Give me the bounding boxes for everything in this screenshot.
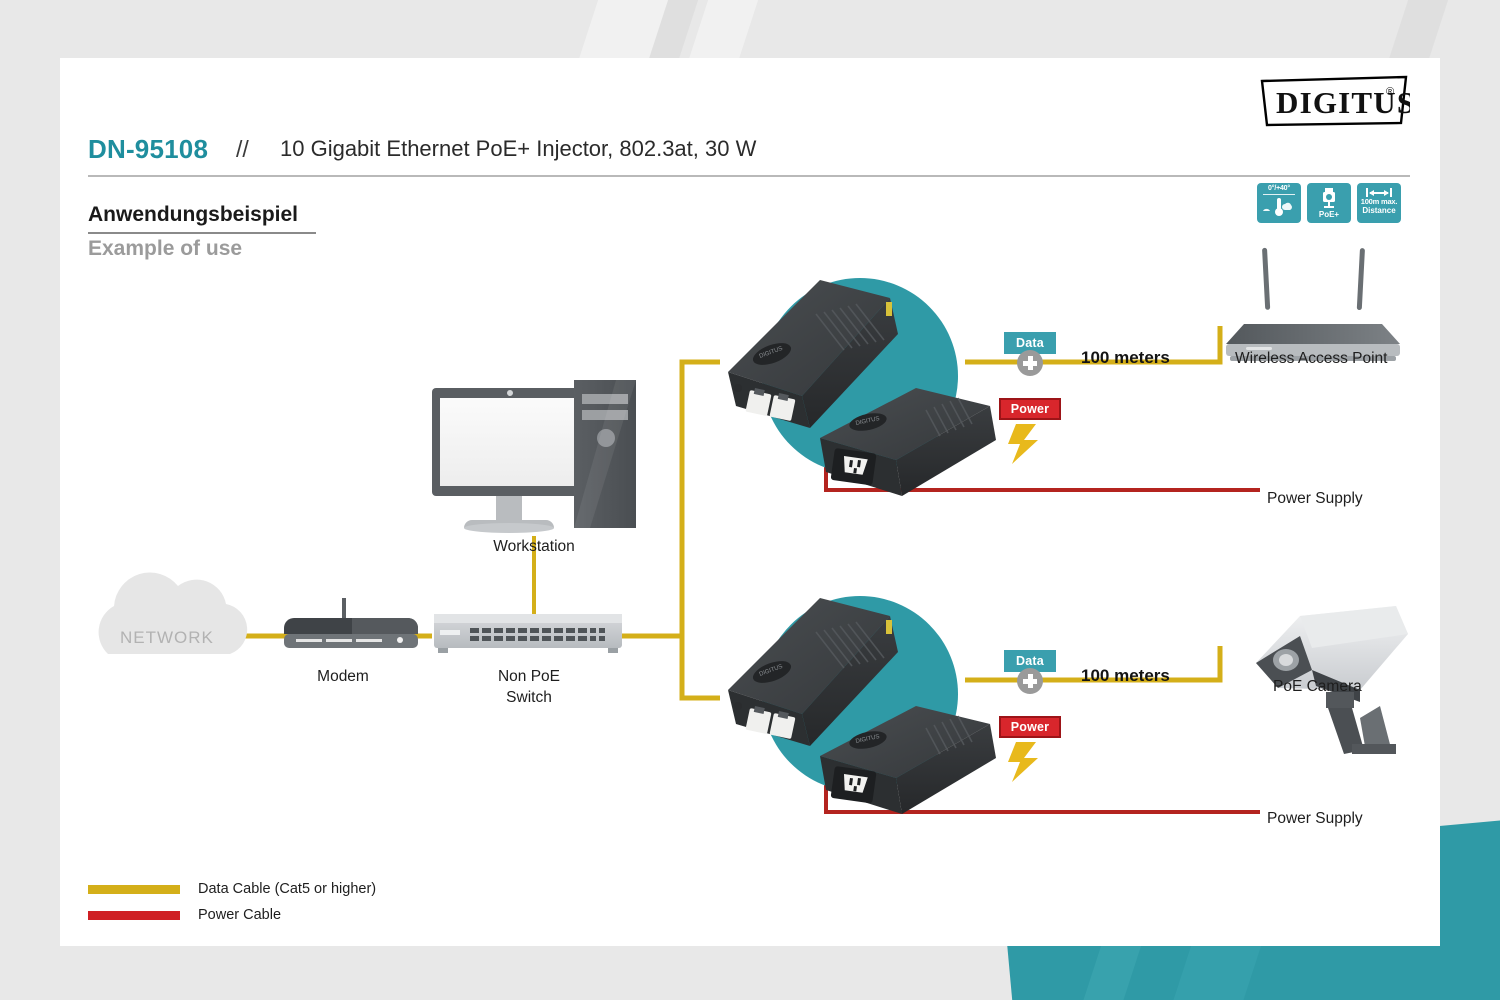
network-diagram: NETWORK — [60, 58, 1440, 946]
data-cable-swatch — [88, 885, 180, 894]
power-cable-legend-label: Power Cable — [198, 907, 281, 923]
distance-label-top: 100 meters — [1081, 348, 1170, 368]
switch-icon — [434, 614, 622, 653]
distance-label-bottom: 100 meters — [1081, 666, 1170, 686]
power-bolt-icon-top — [1008, 424, 1038, 464]
svg-text:NETWORK: NETWORK — [120, 628, 214, 647]
power-chip-top: Power — [999, 398, 1061, 420]
label-poe-camera: PoE Camera — [1273, 678, 1362, 696]
label-switch-line2: Switch — [484, 689, 574, 707]
decor-teal-block — [1440, 830, 1500, 1000]
power-cable-swatch — [88, 911, 180, 920]
plus-icon-bottom — [1017, 668, 1043, 694]
plus-icon-top — [1017, 350, 1043, 376]
data-cable-legend-label: Data Cable (Cat5 or higher) — [198, 881, 376, 897]
label-switch-line1: Non PoE — [484, 668, 574, 686]
label-modem: Modem — [298, 668, 388, 686]
label-wireless-access-point: Wireless Access Point — [1235, 350, 1387, 368]
workstation-icon — [432, 380, 636, 533]
power-chip-bottom: Power — [999, 716, 1061, 738]
power-bolt-icon-bottom — [1008, 742, 1038, 782]
modem-icon — [284, 598, 418, 648]
label-power-supply-top: Power Supply — [1267, 490, 1363, 508]
document-sheet: DIGITUS ® DN-95108 // 10 Gigabit Etherne… — [60, 58, 1440, 946]
wireless-access-point-icon — [1226, 248, 1400, 361]
page-canvas: DIGITUS ® DN-95108 // 10 Gigabit Etherne… — [0, 0, 1500, 1000]
legend-row-power-cable: Power Cable — [88, 902, 376, 928]
diagram-graphics: NETWORK — [60, 58, 1440, 946]
label-workstation: Workstation — [454, 538, 614, 556]
cable-legend: Data Cable (Cat5 or higher) Power Cable — [88, 876, 376, 928]
label-power-supply-bottom: Power Supply — [1267, 810, 1363, 828]
legend-row-data-cable: Data Cable (Cat5 or higher) — [88, 876, 376, 902]
network-cloud-icon: NETWORK — [99, 573, 248, 654]
